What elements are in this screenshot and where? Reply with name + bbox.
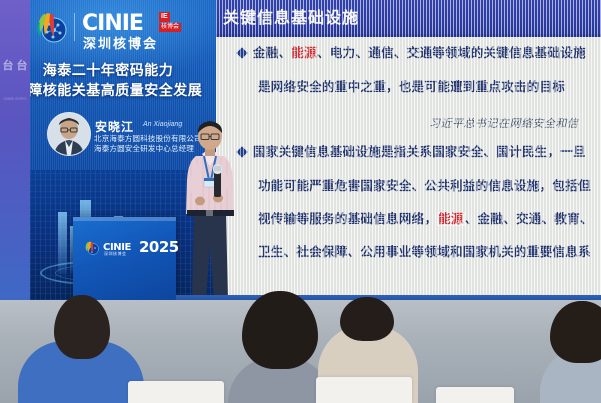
podium-year: 2025	[139, 238, 179, 256]
podium-cinie-logo-icon	[83, 240, 99, 256]
edge-banner-text: 台 台	[2, 58, 28, 75]
bullet-text-run: 视传输等服务的基础信息网络，	[258, 212, 437, 226]
audience-head	[54, 295, 110, 359]
podium-chinese-name: 深圳核博会	[104, 251, 127, 257]
bullet-text-run: 金融	[253, 46, 279, 60]
diamond-bullet-icon	[236, 47, 247, 58]
conference-photo: CINIE IE 核博会 深圳核博会 海泰二十年密码能力 保障核能关基高质量安全…	[0, 0, 601, 403]
presentation-slide-screen: 关键信息基础设施 金融、能源、电力、通信、交通等领域的关键信息基础设施 是网络安…	[216, 0, 601, 300]
audience-paper	[316, 377, 412, 403]
slide-bullet: 金融、能源、电力、通信、交通等领域的关键信息基础设施	[238, 45, 586, 62]
bullet-text-run: 卫生、社会保障、公用事业等领域和国家机关的重要信息系	[258, 245, 591, 259]
bullet-text-run: 国家关键信息基础设施是指关系国家安全、国计民生，一旦	[253, 145, 586, 159]
audience-head	[340, 297, 394, 341]
slide-body: 金融、能源、电力、通信、交通等领域的关键信息基础设施 是网络安全的重中之重，也是…	[216, 37, 601, 300]
bullet-line: 金融、能源、电力、通信、交通等领域的关键信息基础设施	[253, 45, 586, 62]
bullet-text-run: 、	[394, 46, 407, 60]
bullet-text-run: 、	[279, 46, 292, 60]
slide-header-bar: 关键信息基础设施	[216, 0, 601, 34]
edge-banner-subtext: CINIE EXPO	[1, 96, 29, 102]
podium: CINIE 深圳核博会 2025	[73, 217, 176, 300]
audience-paper	[436, 387, 514, 403]
edge-banner: 台 台 CINIE EXPO	[0, 0, 30, 300]
bullet-text-run: 功能可能严重危害国家安全、公共利益的信息设施，包括但	[258, 179, 591, 193]
session-headline: 海泰二十年密码能力 保障核能关基高质量安全发展	[12, 60, 204, 100]
speaker-name-cn: 安晓江	[95, 118, 134, 135]
audience-member	[540, 307, 601, 403]
bullet-text-run: 、金融、交通、教育、	[465, 212, 593, 226]
audience-paper	[128, 381, 224, 403]
bullet-text-run: 交通	[407, 46, 433, 60]
bullet-text-run: 等领域的关键信息基础设施	[432, 46, 586, 60]
bullet-line: 功能可能严重危害国家安全、公共利益的信息设施，包括但	[258, 178, 591, 195]
podium-top-edge	[73, 217, 176, 221]
logo-badge-bottom: 核博会	[159, 23, 181, 32]
bullet-text-run: 能源	[291, 46, 317, 60]
cinie-logo-block: CINIE IE 核博会 深圳核博会	[33, 7, 203, 51]
cinie-chinese-name: 深圳核博会	[83, 33, 158, 52]
bullet-line: 卫生、社会保障、公用事业等领域和国家机关的重要信息系	[258, 244, 591, 261]
logo-divider	[74, 13, 75, 41]
bullet-text-run: 能源	[437, 212, 465, 226]
bullet-text-run: 、	[355, 46, 368, 60]
audience-head	[242, 291, 318, 369]
headline-line-1: 海泰二十年密码能力	[12, 60, 204, 80]
logo-badge-top: IE	[159, 12, 170, 22]
slide-bullet: 国家关键信息基础设施是指关系国家安全、国计民生，一旦	[238, 144, 586, 161]
headline-line-2: 保障核能关基高质量安全发展	[12, 80, 204, 100]
bullet-text-run: 、	[317, 46, 330, 60]
bullet-line: 国家关键信息基础设施是指关系国家安全、国计民生，一旦	[253, 144, 586, 161]
slide-attribution: 习近平总书记在网络安全和信	[429, 115, 579, 131]
bullet-line: 视传输等服务的基础信息网络，能源、金融、交通、教育、	[258, 211, 593, 228]
audience-member	[18, 303, 144, 403]
bullet-text-run: 是网络安全的重中之重，也是可能遭到重点攻击的目标	[258, 80, 565, 94]
bullet-text-run: 电力	[330, 46, 356, 60]
slide-title: 关键信息基础设施	[223, 4, 359, 28]
audience-head	[550, 301, 601, 363]
speaker-portrait-avatar	[47, 112, 91, 156]
bullet-text-run: 通信	[368, 46, 394, 60]
bullet-line: 是网络安全的重中之重，也是可能遭到重点攻击的目标	[258, 79, 565, 96]
cinie-logo-icon	[33, 10, 67, 44]
speaker-person	[176, 118, 244, 302]
